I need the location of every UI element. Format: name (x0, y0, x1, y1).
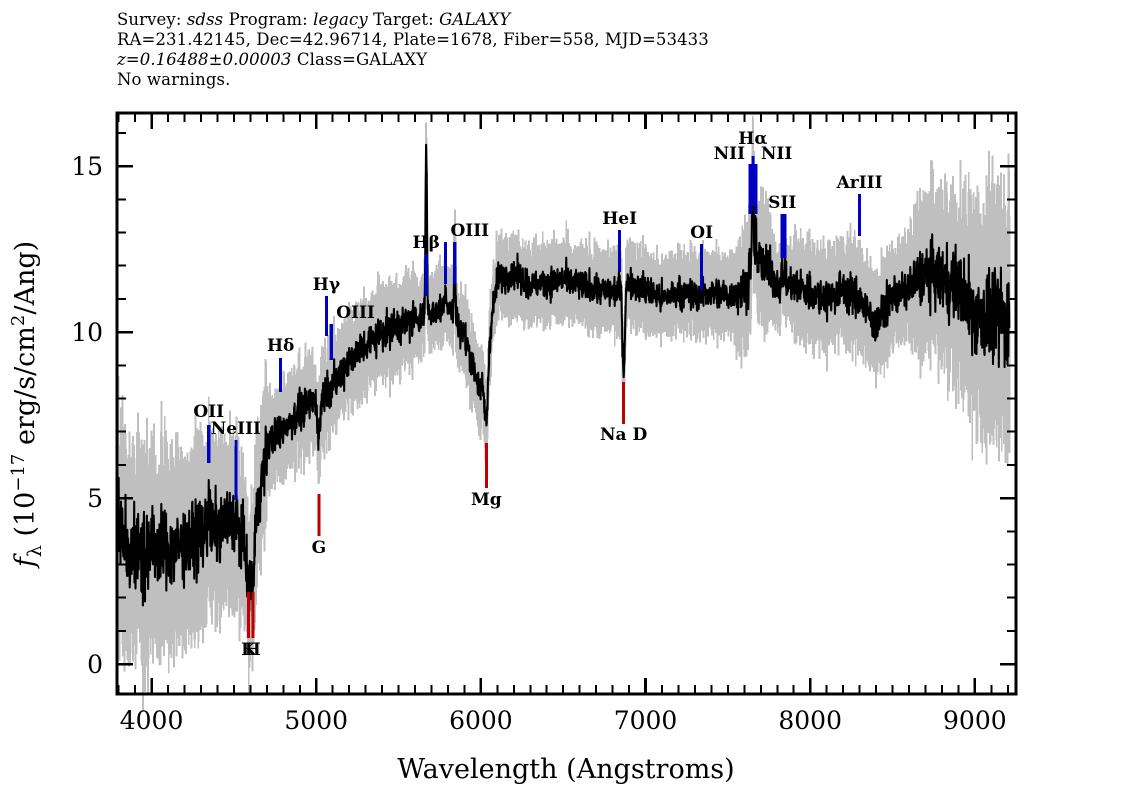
x-axis-title: Wavelength (Angstroms) (397, 754, 734, 785)
line-label-SII_6716: SII (768, 193, 796, 213)
line-label-G: G (312, 538, 327, 558)
line-label-NII_6583: NII (761, 144, 792, 164)
line-label-Hbeta: Hβ (413, 233, 440, 253)
x-tick-label: 9000 (943, 706, 1007, 735)
x-tick-label: 8000 (778, 706, 842, 735)
line-label-ArIII: ArIII (836, 173, 883, 193)
line-label-NaD: Na D (600, 425, 647, 445)
x-tick-label: 4000 (120, 706, 184, 735)
line-label-OI: OI (690, 223, 713, 243)
spectral-line-G: G (312, 494, 327, 558)
line-label-HeI: HeI (602, 209, 637, 229)
line-label-OIII_4959: OIII (450, 221, 489, 241)
line-label-Mg: Mg (471, 490, 502, 510)
y-axis-title: fλ (10−17 erg/s/cm2/Ang) (8, 241, 46, 569)
x-tick-label: 7000 (614, 706, 678, 735)
y-tick-label: 0 (87, 650, 103, 679)
y-tick-label: 5 (87, 484, 103, 513)
spectrum-plot-svg: 400050006000700080009000051015 OIINeIIIK… (0, 0, 1134, 810)
y-tick-label: 15 (71, 152, 103, 181)
x-tick-label: 5000 (284, 706, 348, 735)
spectral-line-Mg: Mg (471, 443, 502, 510)
y-tick-label: 10 (71, 318, 103, 347)
spectrum-viewer: Survey: sdss Program: legacy Target: GAL… (0, 0, 1134, 810)
spectral-line-ArIII: ArIII (836, 173, 883, 236)
y-axis-title-text: fλ (10−17 erg/s/cm2/Ang) (8, 241, 46, 569)
line-label-H: H (245, 640, 261, 660)
line-label-Hgamma: Hγ (313, 275, 341, 295)
line-label-NeIII: NeIII (211, 419, 261, 439)
x-tick-label: 6000 (449, 706, 513, 735)
spectrum-plot: 400050006000700080009000051015 OIINeIIIK… (0, 0, 1134, 810)
line-label-Hdelta: Hδ (267, 336, 294, 356)
spectral-line-NII_6548: NII (714, 144, 750, 214)
line-label-OIII_4363: OIII (336, 303, 375, 323)
spectral-line-NaD: Na D (600, 382, 647, 445)
